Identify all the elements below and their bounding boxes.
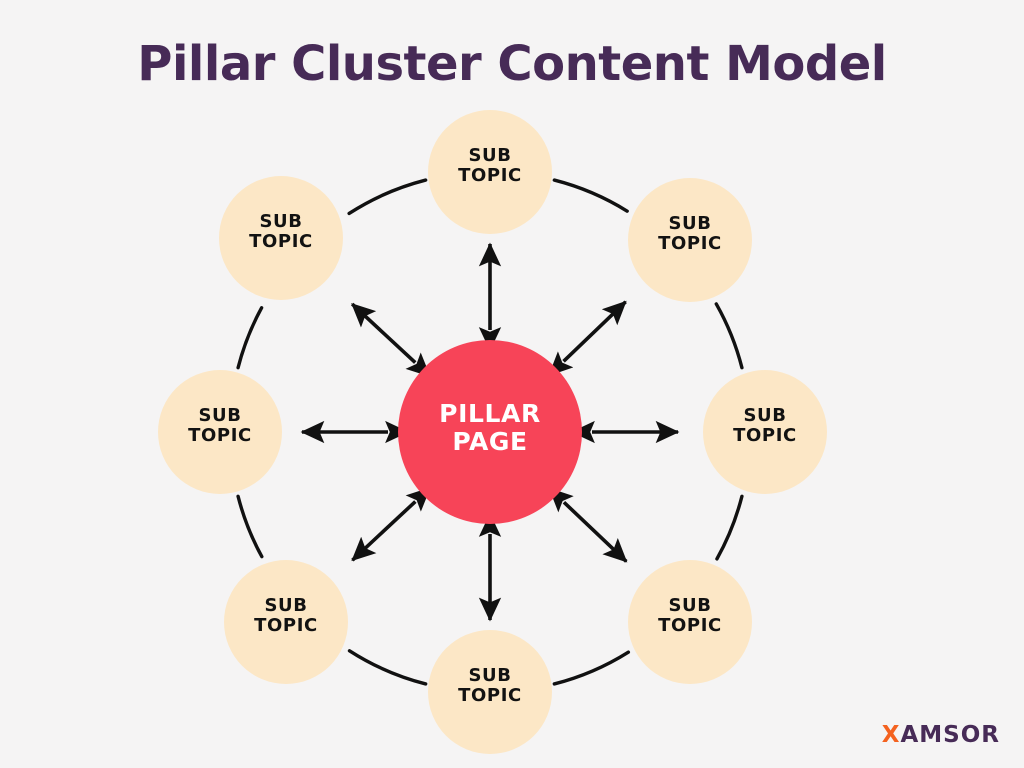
ring-arc [554, 180, 627, 211]
node-circle-sub-topic-top-right[interactable] [628, 178, 752, 302]
spoke-arrow-sub-topic-bottom-right [564, 502, 626, 561]
node-circle-sub-topic-bottom[interactable] [428, 630, 552, 754]
spoke-arrow-sub-topic-top-right [564, 302, 626, 362]
spoke-arrow-sub-topic-top-left [352, 304, 415, 363]
node-circle-sub-topic-top[interactable] [428, 110, 552, 234]
node-circle-sub-topic-left[interactable] [158, 370, 282, 494]
ring-arc [350, 651, 426, 684]
logo-wordmark: AMSOR [900, 722, 1000, 748]
node-circle-sub-topic-top-left[interactable] [219, 176, 343, 300]
node-circle-sub-topic-bottom-left[interactable] [224, 560, 348, 684]
brand-logo: XAMSOR [882, 722, 1000, 748]
node-circle-sub-topic-bottom-right[interactable] [628, 560, 752, 684]
ring-arc [716, 304, 742, 368]
ring-arc [238, 308, 262, 368]
logo-accent-letter: X [882, 722, 901, 748]
pillar-cluster-diagram [0, 0, 1024, 768]
ring-arc [717, 496, 742, 559]
node-circle-pillar-page[interactable] [398, 340, 582, 524]
diagram-nodes [158, 110, 827, 754]
ring-arc [349, 180, 426, 213]
spoke-arrow-sub-topic-bottom-left [352, 502, 415, 561]
node-circle-sub-topic-right[interactable] [703, 370, 827, 494]
ring-arc [554, 652, 628, 684]
ring-arc [238, 496, 262, 556]
